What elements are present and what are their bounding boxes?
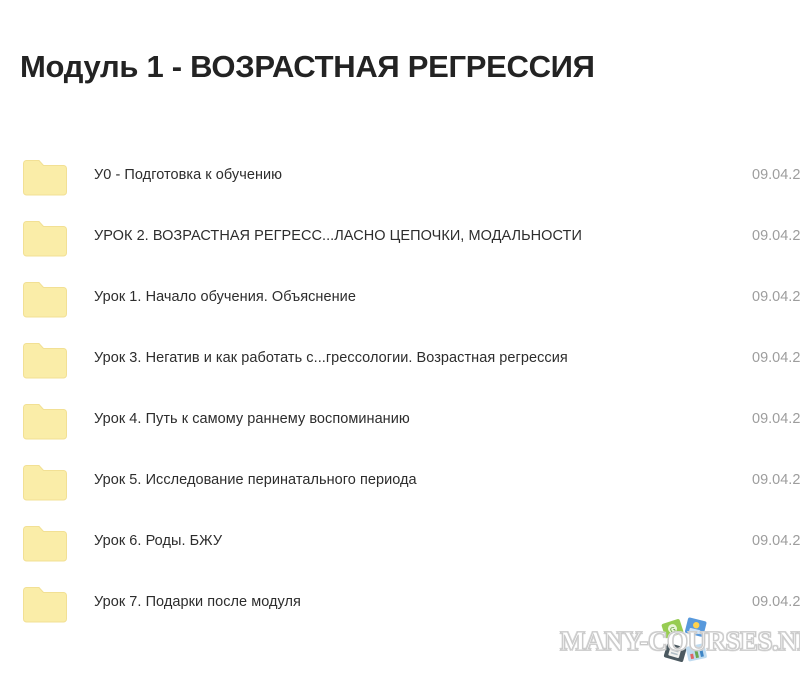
folder-icon [22,584,68,624]
file-row[interactable]: Урок 6. Роды. БЖУ 09.04.2 [0,519,800,580]
file-row[interactable]: УРОК 2. ВОЗРАСТНАЯ РЕГРЕСС...ЛАСНО ЦЕПОЧ… [0,214,800,275]
file-date: 09.04.2 [752,458,800,502]
file-name: Урок 7. Подарки после модуля [94,580,301,624]
folder-icon [22,523,68,563]
folder-icon [22,157,68,197]
file-row[interactable]: Урок 3. Негатив и как работать с...гресс… [0,336,800,397]
file-name: УРОК 2. ВОЗРАСТНАЯ РЕГРЕСС...ЛАСНО ЦЕПОЧ… [94,214,582,258]
file-row[interactable]: Урок 5. Исследование перинатального пери… [0,458,800,519]
file-name: Урок 6. Роды. БЖУ [94,519,222,563]
page-root: Модуль 1 - ВОЗРАСТНАЯ РЕГРЕССИЯ У0 - Под… [0,0,800,672]
file-date: 09.04.2 [752,397,800,441]
file-name: У0 - Подготовка к обучению [94,153,282,197]
watermark-text: MANY-COURSES.NET [560,626,800,657]
file-date: 09.04.2 [752,153,800,197]
folder-icon [22,340,68,380]
file-date: 09.04.2 [752,519,800,563]
file-date: 09.04.2 [752,275,800,319]
file-row[interactable]: Урок 1. Начало обучения. Объяснение 09.0… [0,275,800,336]
folder-icon [22,218,68,258]
file-row[interactable]: У0 - Подготовка к обучению 09.04.2 [0,153,800,214]
file-name: Урок 4. Путь к самому раннему воспоминан… [94,397,410,441]
folder-icon [22,462,68,502]
file-list: У0 - Подготовка к обучению 09.04.2 УРОК … [0,153,800,641]
folder-icon [22,279,68,319]
folder-icon [22,401,68,441]
watermark: G [560,612,800,670]
file-date: 09.04.2 [752,336,800,380]
file-date: 09.04.2 [752,214,800,258]
file-name: Урок 5. Исследование перинатального пери… [94,458,417,502]
file-name: Урок 1. Начало обучения. Объяснение [94,275,356,319]
file-name: Урок 3. Негатив и как работать с...гресс… [94,336,568,380]
file-row[interactable]: Урок 4. Путь к самому раннему воспоминан… [0,397,800,458]
page-title: Модуль 1 - ВОЗРАСТНАЯ РЕГРЕССИЯ [20,47,595,87]
